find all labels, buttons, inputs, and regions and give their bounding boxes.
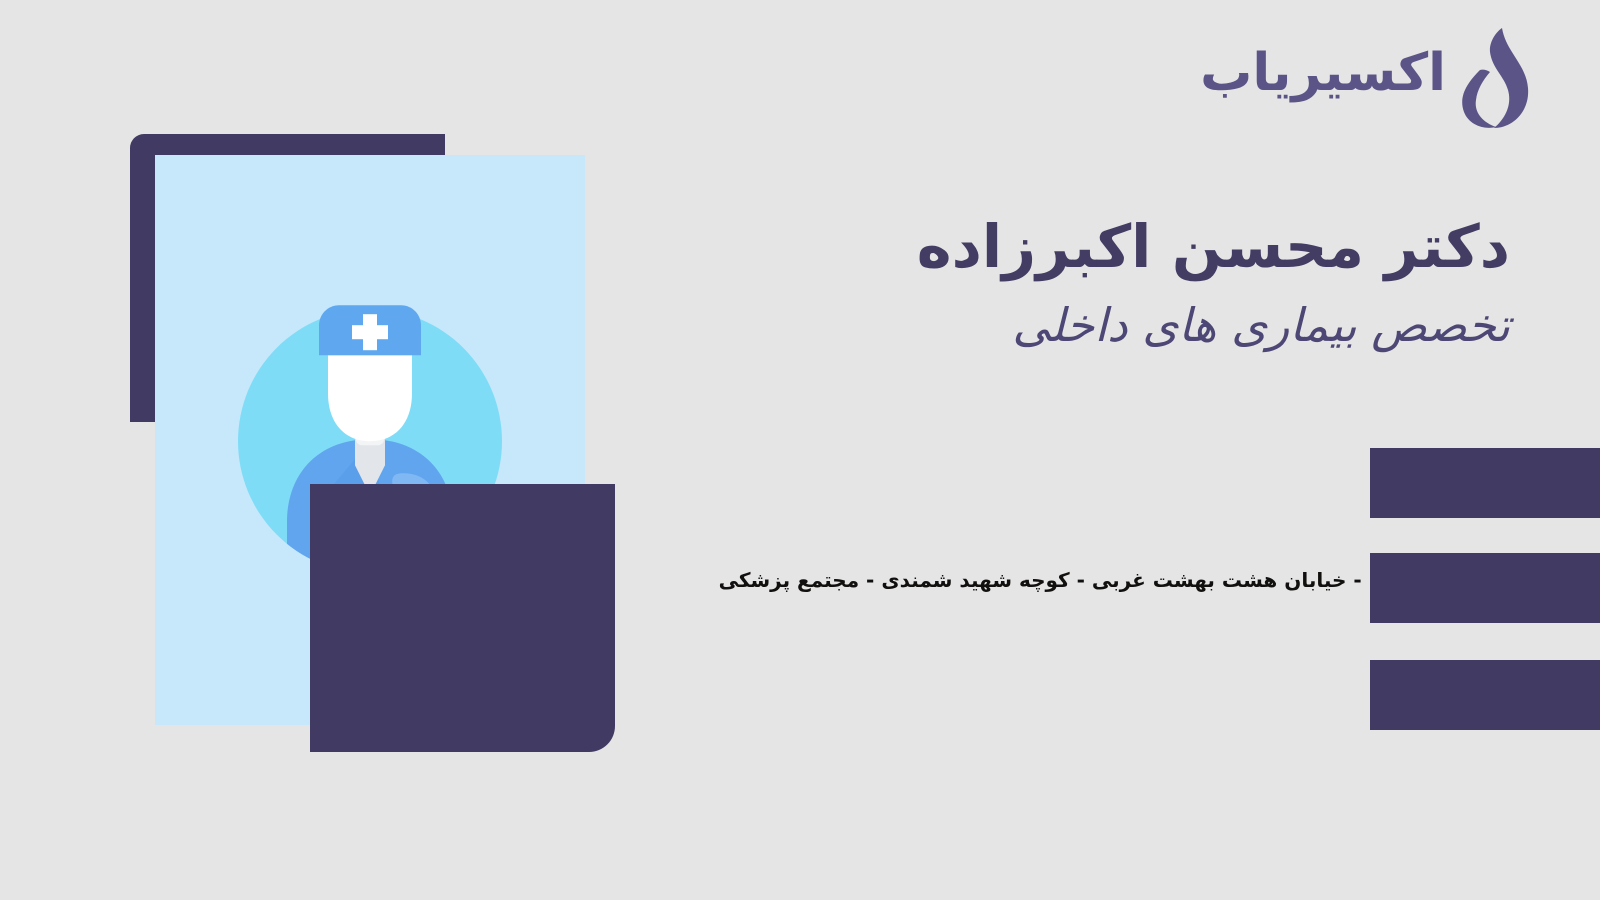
decorative-bars (1360, 0, 1600, 900)
decorative-plate-front (310, 484, 615, 752)
banner-canvas: اکسیریاب طبقه سوم <br/> - خیابان هشت بهش… (0, 0, 1600, 900)
page-title: دکتر محسن اکبرزاده (770, 212, 1510, 282)
doctor-headline: دکتر محسن اکبرزاده تخصص بیماری های داخلی (770, 212, 1510, 355)
doctor-illustration-stack (0, 0, 680, 800)
decorative-bar-3 (1370, 660, 1600, 730)
brand-logo[interactable]: اکسیریاب (1200, 26, 1532, 130)
doctor-specialty: تخصص بیماری های داخلی (770, 296, 1510, 356)
decorative-bar-1 (1370, 448, 1600, 518)
flame-droplet-icon (1456, 26, 1532, 130)
brand-name: اکسیریاب (1200, 47, 1446, 109)
